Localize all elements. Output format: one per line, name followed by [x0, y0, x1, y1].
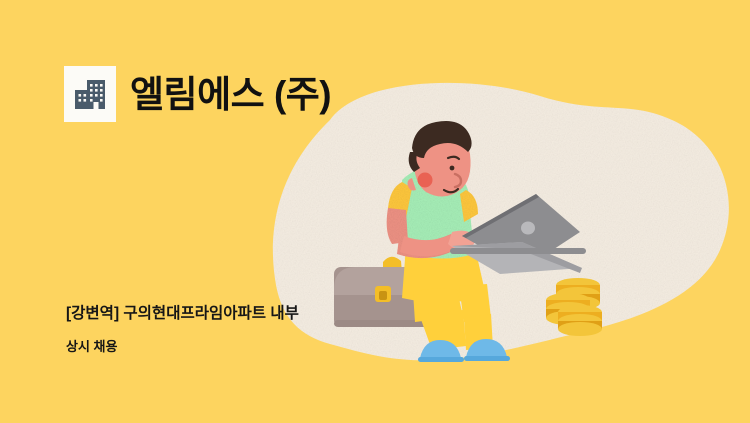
job-location-text: [강변역] 구의현대프라임아파트 내부: [66, 305, 299, 324]
job-info-block: [강변역] 구의현대프라임아파트 내부 상시 채용: [66, 305, 299, 354]
company-header: 엘림에스 (주): [64, 66, 331, 122]
job-posting-card: 엘림에스 (주) [강변역] 구의현대프라임아파트 내부 상시 채용: [0, 0, 750, 423]
illustration-person-working-on-laptop: [0, 0, 750, 423]
building-icon: [72, 76, 108, 112]
job-status-text: 상시 채용: [66, 339, 299, 355]
company-name: 엘림에스 (주): [130, 76, 331, 113]
coin-stack: [546, 278, 602, 336]
company-logo-badge: [64, 66, 116, 122]
